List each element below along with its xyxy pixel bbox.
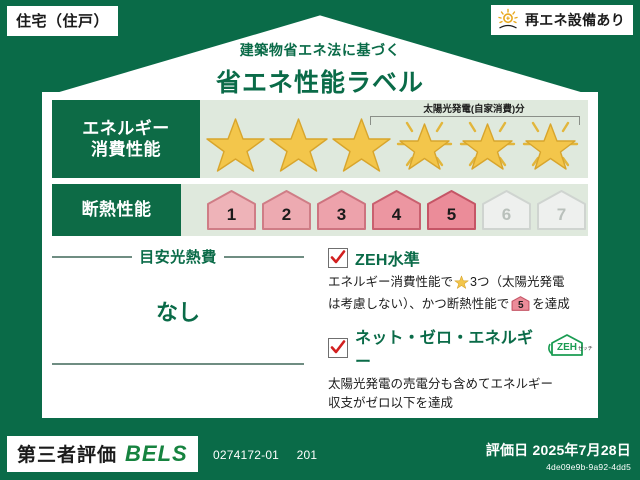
third-party-label: 第三者評価 <box>17 440 117 467</box>
inline-house-level-value: 5 <box>511 298 530 314</box>
insulation-level-7: 7 <box>535 188 588 232</box>
energy-performance-row: エネルギー 消費性能 太陽光発電(自家消費)分 <box>52 100 588 178</box>
svg-text:ZEH: ZEH <box>557 342 577 353</box>
check-icon <box>330 339 346 356</box>
insulation-performance-value: 1 2 3 4 5 <box>181 184 588 236</box>
star-3 <box>330 111 393 173</box>
inline-house-level-icon: 5 <box>511 295 530 312</box>
criteria-zeh-standard: ZEH水準 エネルギー消費性能で3つ（太陽光発電は考慮しない）、かつ断熱性能で5… <box>328 246 588 315</box>
lower-section: 目安光熱費 なし ZEH水準 エネルギー消 <box>52 246 588 423</box>
insulation-level-6-value: 6 <box>480 205 533 225</box>
star-1 <box>204 111 267 173</box>
net-zero-desc-line1: 太陽光発電の売電分も含めてエネルギー <box>328 377 553 391</box>
insulation-level-5-value: 5 <box>425 205 478 225</box>
insulation-performance-row: 断熱性能 1 2 3 <box>52 184 588 236</box>
evaluation-date-label: 評価日 <box>486 442 529 458</box>
insulation-level-6: 6 <box>480 188 533 232</box>
evaluation-hash-id: 4de09e9b-9a92-4dd5 <box>486 462 631 472</box>
utility-cost-bottom-rule <box>52 363 304 365</box>
zeh-standard-checkbox <box>328 248 348 268</box>
insulation-level-1: 1 <box>205 188 258 232</box>
certificate-number: 0274172-01 <box>213 448 279 462</box>
energy-label-line2: 消費性能 <box>91 139 161 160</box>
zeh-desc-part3: を達成 <box>532 297 570 311</box>
insulation-performance-label: 断熱性能 <box>52 184 181 236</box>
zeh-desc-part2: は考慮しない）、かつ断熱性能で <box>328 297 509 311</box>
unit-number: 201 <box>297 448 318 462</box>
evaluation-date: 評価日 2025年7月28日 <box>486 440 631 460</box>
label-content: エネルギー 消費性能 太陽光発電(自家消費)分 <box>52 100 588 423</box>
sun-icon <box>496 8 520 32</box>
zeh-desc-star-count: 3つ（太陽光発電 <box>470 275 564 289</box>
utility-cost-heading: 目安光熱費 <box>139 246 217 267</box>
footer: 第三者評価 BELS 0274172-01 201 評価日 2025年7月28日… <box>0 428 640 480</box>
renewable-badge-label: 再エネ設備あり <box>525 10 625 30</box>
energy-performance-label: エネルギー 消費性能 <box>52 100 200 178</box>
check-icon <box>330 249 346 266</box>
title-block: 建築物省エネ法に基づく 省エネ性能ラベル <box>0 40 640 99</box>
insulation-level-7-value: 7 <box>535 205 588 225</box>
energy-label-line1: エネルギー <box>82 118 170 139</box>
rule-left <box>52 256 132 258</box>
insulation-level-scale: 1 2 3 4 5 <box>205 188 588 232</box>
criteria-net-zero-energy: ネット・ゼロ・エネルギー ZEH ゼッチ 太陽光発電の売電分も含めてエネルギー収… <box>328 324 588 414</box>
insulation-level-1-value: 1 <box>205 205 258 225</box>
insulation-level-4: 4 <box>370 188 423 232</box>
bels-logo: BELS <box>125 441 188 467</box>
zeh-standard-header: ZEH水準 <box>328 246 588 270</box>
net-zero-checkbox <box>328 338 348 358</box>
utility-cost-column: 目安光熱費 なし <box>52 246 314 423</box>
zeh-logo-badge: ZEH ゼッチ <box>546 332 588 363</box>
housing-type-tag: 住宅（住戸） <box>7 6 118 36</box>
star-2 <box>267 111 330 173</box>
insulation-level-3-value: 3 <box>315 205 368 225</box>
net-zero-title: ネット・ゼロ・エネルギー <box>355 324 535 372</box>
page-title: 省エネ性能ラベル <box>0 63 640 99</box>
renewable-equipment-badge: 再エネ設備あり <box>491 5 633 35</box>
inline-star-icon <box>454 274 469 295</box>
insulation-label-text: 断熱性能 <box>82 199 152 220</box>
insulation-level-5: 5 <box>425 188 478 232</box>
net-zero-header: ネット・ゼロ・エネルギー ZEH ゼッチ <box>328 324 588 372</box>
evaluation-info: 評価日 2025年7月28日 4de09e9b-9a92-4dd5 <box>486 440 631 472</box>
net-zero-desc-line2: 収支がゼロ以下を達成 <box>328 396 453 410</box>
rule-right <box>224 256 304 258</box>
energy-performance-value: 太陽光発電(自家消費)分 <box>200 100 588 178</box>
zeh-logo-caption: ゼッチ <box>578 345 592 352</box>
zeh-standard-description: エネルギー消費性能で3つ（太陽光発電は考慮しない）、かつ断熱性能で5を達成 <box>328 273 588 315</box>
insulation-level-2-value: 2 <box>260 205 313 225</box>
certificate-number-group: 0274172-01 201 <box>213 448 317 462</box>
bels-certification-box: 第三者評価 BELS <box>7 436 198 472</box>
criteria-column: ZEH水準 エネルギー消費性能で3つ（太陽光発電は考慮しない）、かつ断熱性能で5… <box>314 246 588 423</box>
title-subtitle: 建築物省エネ法に基づく <box>0 40 640 60</box>
utility-cost-header: 目安光熱費 <box>52 246 304 267</box>
insulation-level-2: 2 <box>260 188 313 232</box>
net-zero-description: 太陽光発電の売電分も含めてエネルギー収支がゼロ以下を達成 <box>328 375 588 414</box>
utility-cost-value: なし <box>52 295 304 327</box>
star-6-solar <box>519 111 582 173</box>
star-rating <box>204 111 582 173</box>
zeh-desc-part1: エネルギー消費性能で <box>328 275 453 289</box>
zeh-standard-title: ZEH水準 <box>355 246 420 270</box>
star-4-solar <box>393 111 456 173</box>
evaluation-date-value: 2025年7月28日 <box>532 442 631 458</box>
insulation-level-4-value: 4 <box>370 205 423 225</box>
star-5-solar <box>456 111 519 173</box>
energy-label-card: 住宅（住戸） 再エネ設備あり 建築物省エネ法に基づく 省エネ性能ラベル <box>0 0 640 480</box>
insulation-level-3: 3 <box>315 188 368 232</box>
